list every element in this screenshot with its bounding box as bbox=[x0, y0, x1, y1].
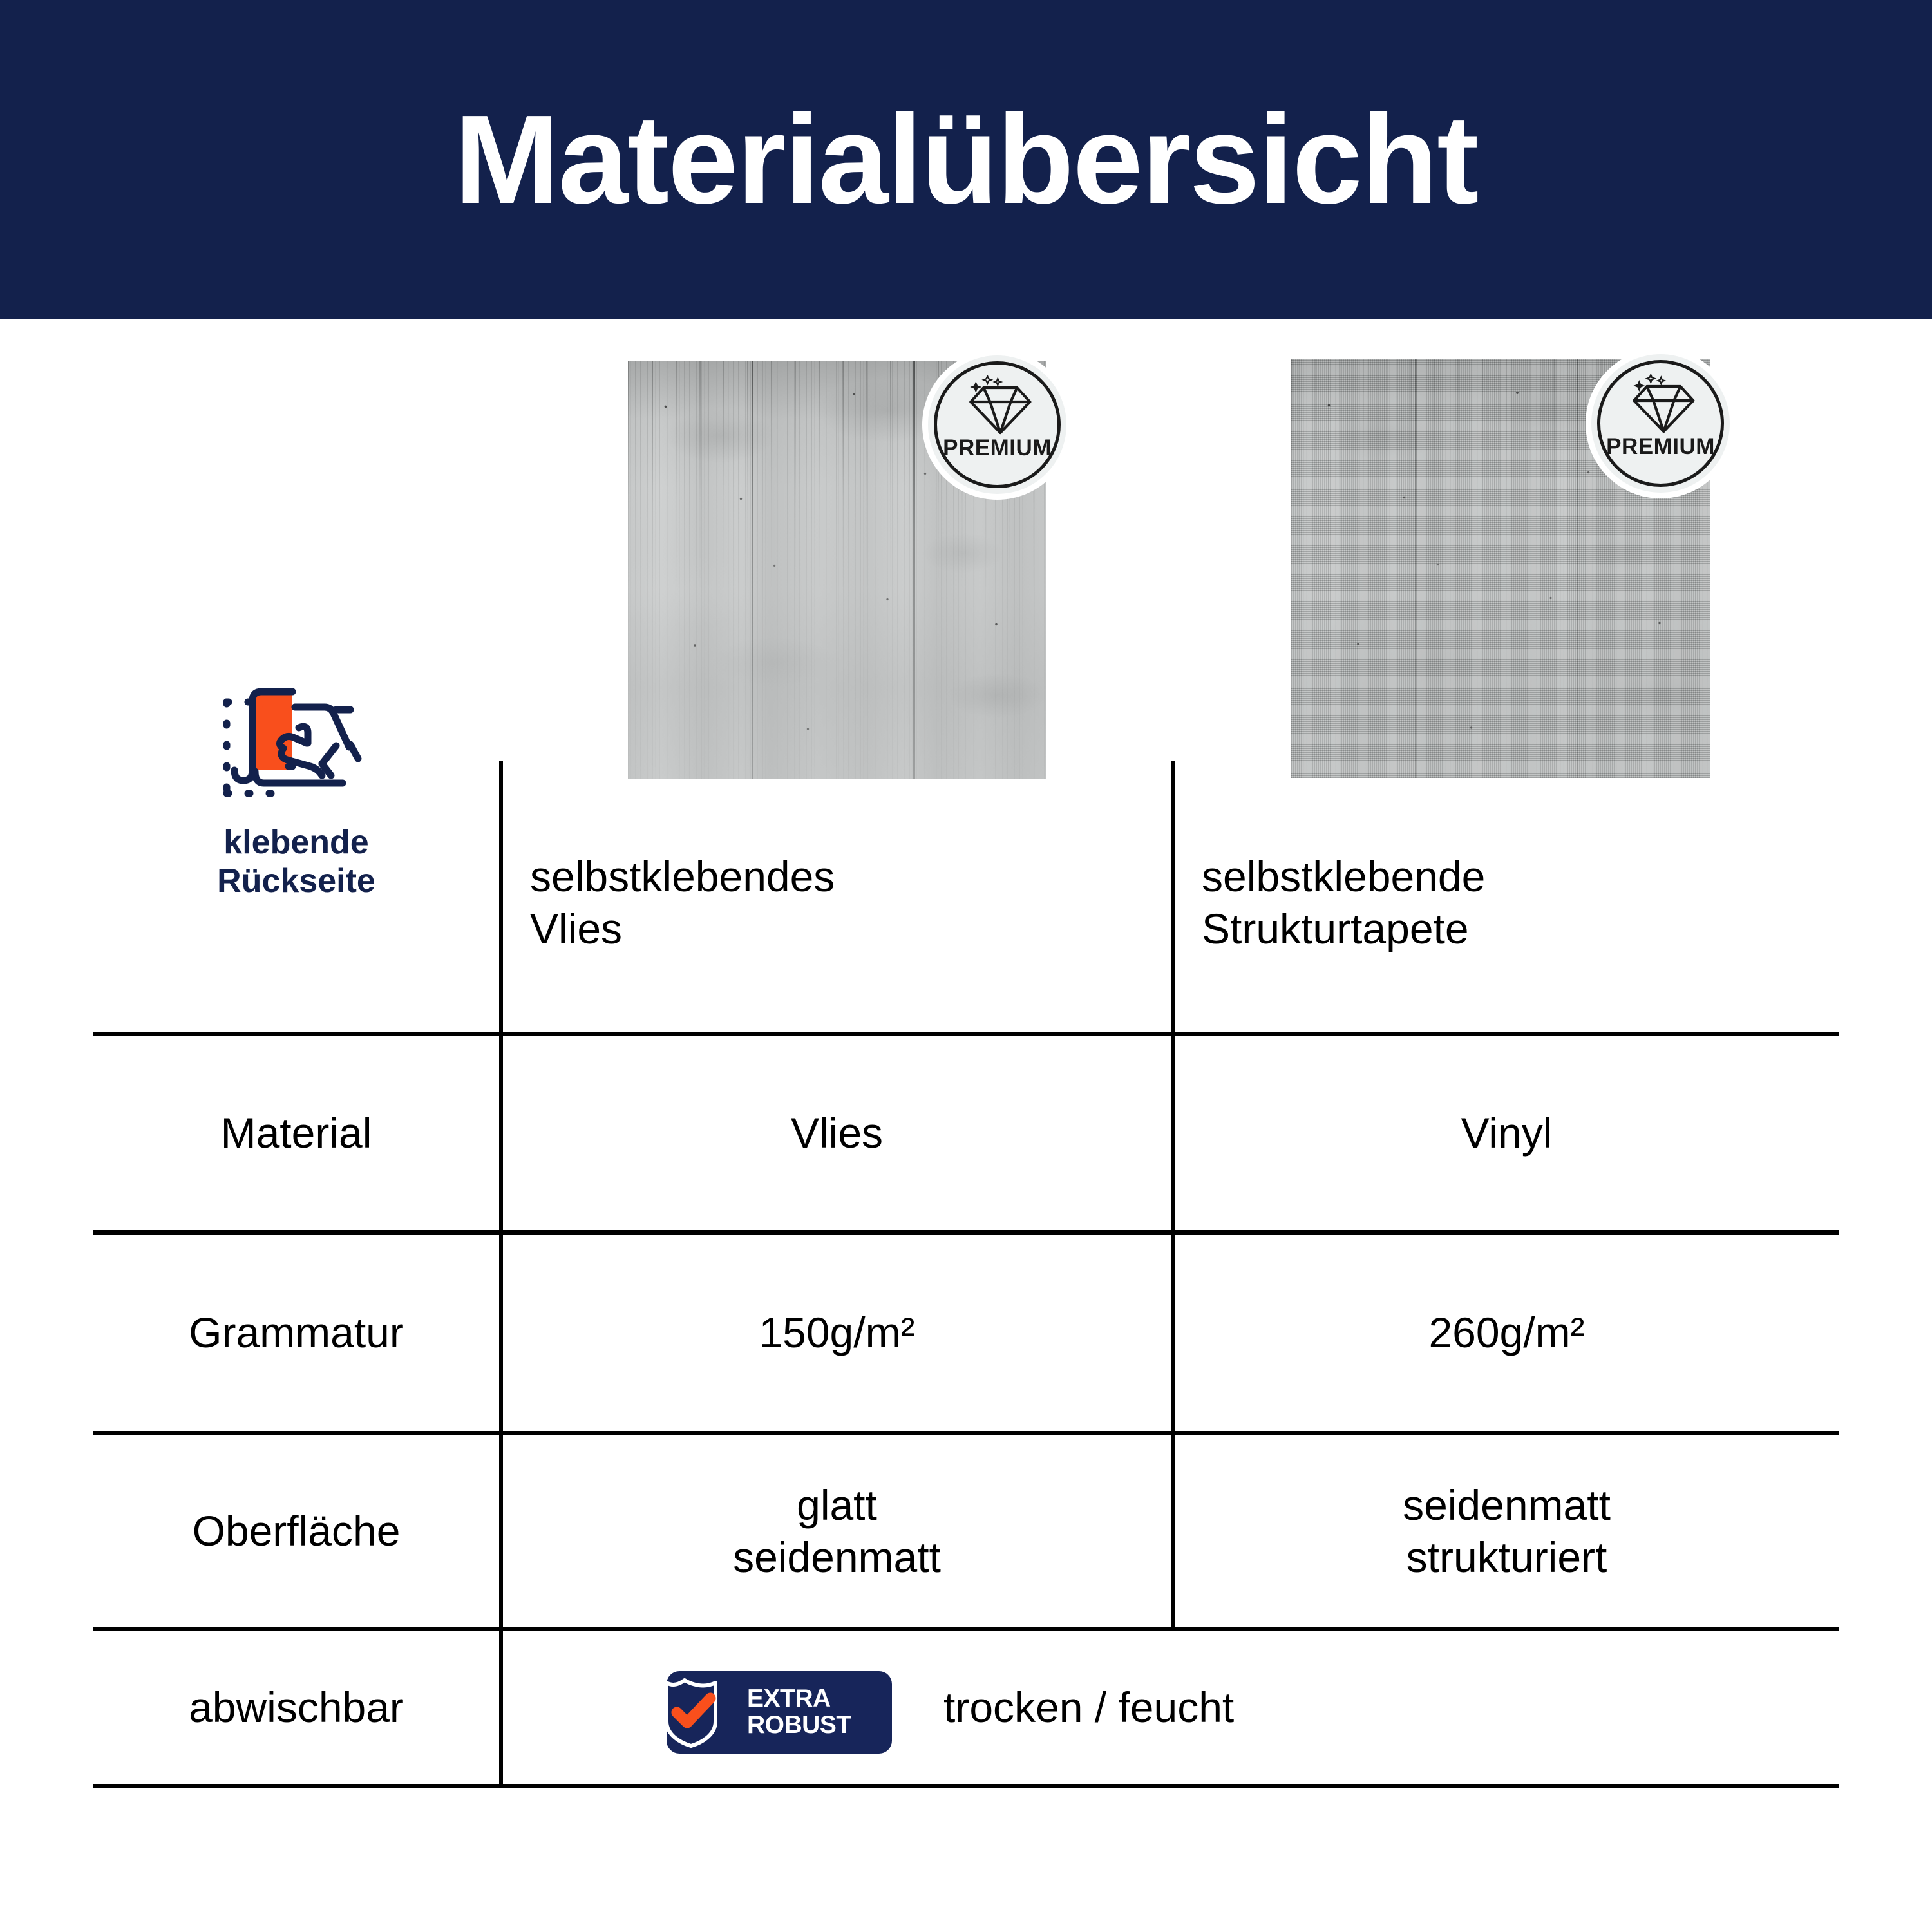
header-cell-vlies: selbstklebendes Vlies bbox=[503, 774, 1166, 1032]
table-rule-3 bbox=[93, 1431, 1839, 1435]
premium-badge-label: PREMIUM bbox=[928, 435, 1066, 461]
extra-robust-badge: EXTRA ROBUST bbox=[667, 1671, 892, 1754]
concrete-structured-swatch[interactable]: PREMIUM bbox=[1291, 359, 1710, 778]
table-rule-2 bbox=[93, 1230, 1839, 1235]
row-label-oberflaeche: Oberfläche bbox=[93, 1435, 499, 1627]
cell-oberflaeche-glatt: glatt seidenmatt bbox=[503, 1435, 1171, 1627]
material-overview-page: Materialübersicht bbox=[0, 0, 1932, 1932]
cell-grammatur-150: 150g/m² bbox=[503, 1235, 1171, 1431]
premium-badge-label: PREMIUM bbox=[1591, 434, 1730, 460]
adhesive-backing-label: klebende Rückseite bbox=[217, 823, 375, 901]
adhesive-backing-cell: klebende Rückseite bbox=[93, 684, 499, 901]
concrete-smooth-swatch[interactable]: PREMIUM bbox=[628, 361, 1046, 779]
cell-abwischbar-value: trocken / feucht bbox=[924, 1631, 1504, 1784]
cell-oberflaeche-strukturiert: seidenmatt strukturiert bbox=[1175, 1435, 1839, 1627]
page-header: Materialübersicht bbox=[0, 0, 1932, 319]
row-label-material: Material bbox=[93, 1036, 499, 1230]
premium-badge: PREMIUM bbox=[928, 355, 1066, 494]
page-title: Materialübersicht bbox=[455, 97, 1478, 223]
header-cell-strukturtapete: selbstklebende Strukturtapete bbox=[1175, 774, 1838, 1032]
table-rule-1 bbox=[93, 1032, 1839, 1036]
shield-check-icon bbox=[651, 1676, 748, 1748]
table-rule-5 bbox=[93, 1784, 1839, 1788]
peeling-sticker-hand-icon bbox=[216, 684, 376, 813]
diamond-icon bbox=[965, 375, 1035, 437]
table-rule-4 bbox=[93, 1627, 1839, 1631]
row-label-grammatur: Grammatur bbox=[93, 1235, 499, 1431]
row-label-abwischbar: abwischbar bbox=[93, 1631, 499, 1784]
cell-material-vinyl: Vinyl bbox=[1175, 1036, 1839, 1230]
premium-badge: PREMIUM bbox=[1591, 354, 1730, 493]
cell-grammatur-260: 260g/m² bbox=[1175, 1235, 1839, 1431]
diamond-icon bbox=[1629, 374, 1698, 435]
extra-robust-label: EXTRA ROBUST bbox=[747, 1686, 851, 1739]
cell-material-vlies: Vlies bbox=[503, 1036, 1171, 1230]
